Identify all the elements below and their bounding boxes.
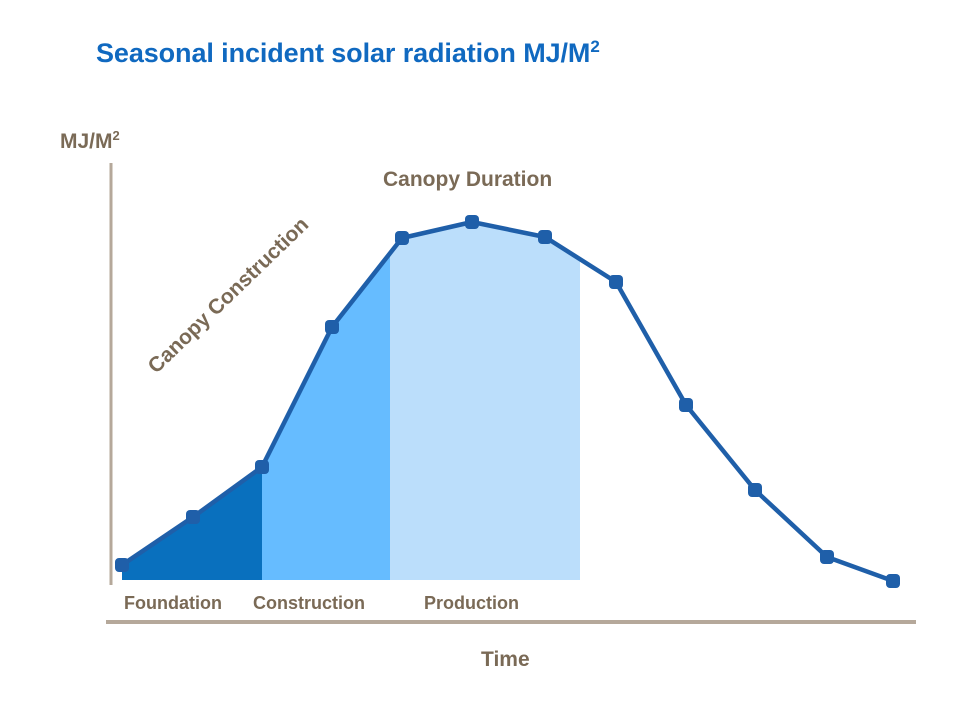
data-point-marker[interactable] (609, 275, 623, 289)
data-point-marker[interactable] (255, 460, 269, 474)
data-point-marker[interactable] (748, 483, 762, 497)
data-point-marker[interactable] (886, 574, 900, 588)
data-point-marker[interactable] (325, 320, 339, 334)
data-point-marker[interactable] (679, 398, 693, 412)
data-point-marker[interactable] (538, 230, 552, 244)
phase-label-construction: Construction (253, 593, 365, 614)
data-point-marker[interactable] (186, 510, 200, 524)
data-point-marker[interactable] (820, 550, 834, 564)
annotation-canopy-duration: Canopy Duration (383, 168, 552, 192)
data-point-marker[interactable] (115, 558, 129, 572)
x-axis-rule (106, 620, 916, 624)
phase-label-production: Production (424, 593, 519, 614)
slide-canvas: Seasonal incident solar radiation MJ/M2 … (0, 0, 960, 720)
phase-label-foundation: Foundation (124, 593, 222, 614)
data-point-marker[interactable] (465, 215, 479, 229)
data-point-marker[interactable] (395, 231, 409, 245)
x-axis-title: Time (481, 648, 530, 672)
